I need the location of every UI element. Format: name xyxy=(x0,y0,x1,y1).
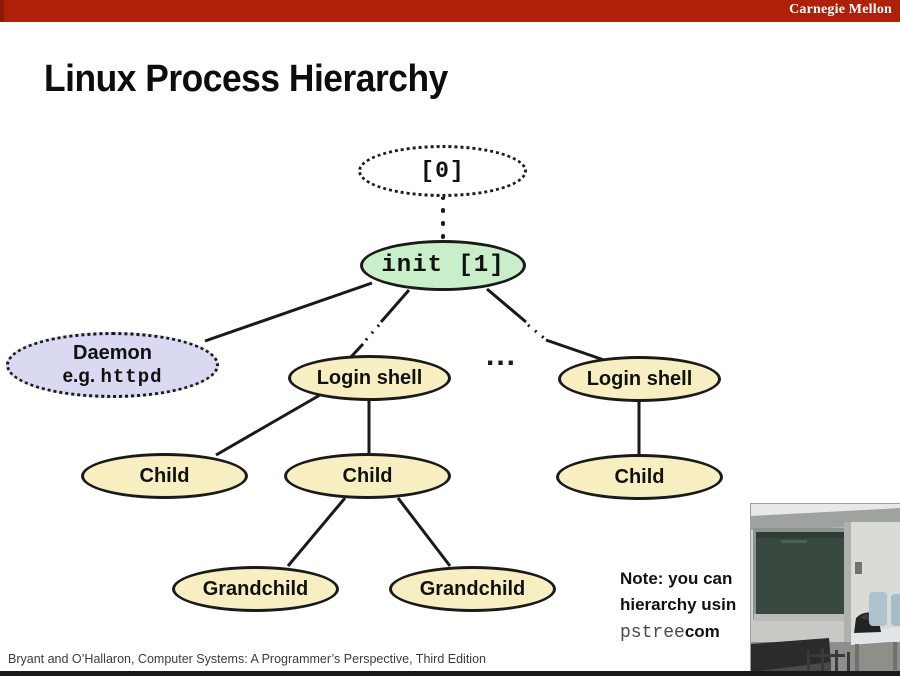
node-child-2[interactable]: Child xyxy=(284,453,451,499)
edge-init-daemon xyxy=(205,283,372,341)
node-login-shell-left[interactable]: Login shell xyxy=(288,355,451,401)
footer-citation: Bryant and O’Hallaron, Computer Systems:… xyxy=(8,652,486,666)
edge-child-2-grandchild-2 xyxy=(398,498,450,566)
node-login-shell-left-label: Login shell xyxy=(317,368,423,389)
node-child-2-label: Child xyxy=(343,466,393,487)
edge-init-login-right-a xyxy=(487,289,526,322)
node-root[interactable]: [0] xyxy=(358,145,527,197)
node-daemon-label: Daemon xyxy=(73,343,152,364)
node-grandchild-1-label: Grandchild xyxy=(203,579,309,600)
node-child-1-label: Child xyxy=(140,466,190,487)
edge-init-login-right-b xyxy=(546,340,604,360)
webcam-video-frame xyxy=(751,504,900,676)
edge-child-2-grandchild-1 xyxy=(288,498,345,566)
node-child-3-label: Child xyxy=(615,467,665,488)
node-grandchild-2-label: Grandchild xyxy=(420,579,526,600)
node-child-1[interactable]: Child xyxy=(81,453,248,499)
edge-init-login-left-dots xyxy=(365,325,379,341)
node-daemon[interactable]: Daemon e.g. httpd xyxy=(6,332,219,398)
node-daemon-sublabel: e.g. httpd xyxy=(62,367,162,388)
node-daemon-eg-text: e.g. xyxy=(62,366,100,387)
note-line-3-tail: com xyxy=(685,622,720,641)
edge-init-login-left-a xyxy=(381,290,409,322)
node-login-shell-right[interactable]: Login shell xyxy=(558,356,721,402)
webcam-video-overlay[interactable] xyxy=(750,503,900,676)
edge-init-login-right-dots xyxy=(528,325,544,338)
node-root-label: [0] xyxy=(420,159,464,183)
node-init-label: init [1] xyxy=(381,253,504,278)
edge-login-left-child-1 xyxy=(216,395,320,455)
slide: Carnegie Mellon Linux Process Hierarchy xyxy=(0,0,900,676)
node-grandchild-2[interactable]: Grandchild xyxy=(389,566,556,612)
node-child-3[interactable]: Child xyxy=(556,454,723,500)
node-login-shell-right-label: Login shell xyxy=(587,369,693,390)
footer-rule xyxy=(0,671,900,676)
node-init[interactable]: init [1] xyxy=(360,240,526,291)
diagram-ellipsis: ... xyxy=(486,341,517,371)
note-pstree-command: pstree xyxy=(620,623,685,643)
node-grandchild-1[interactable]: Grandchild xyxy=(172,566,339,612)
node-daemon-httpd-text: httpd xyxy=(101,366,163,388)
